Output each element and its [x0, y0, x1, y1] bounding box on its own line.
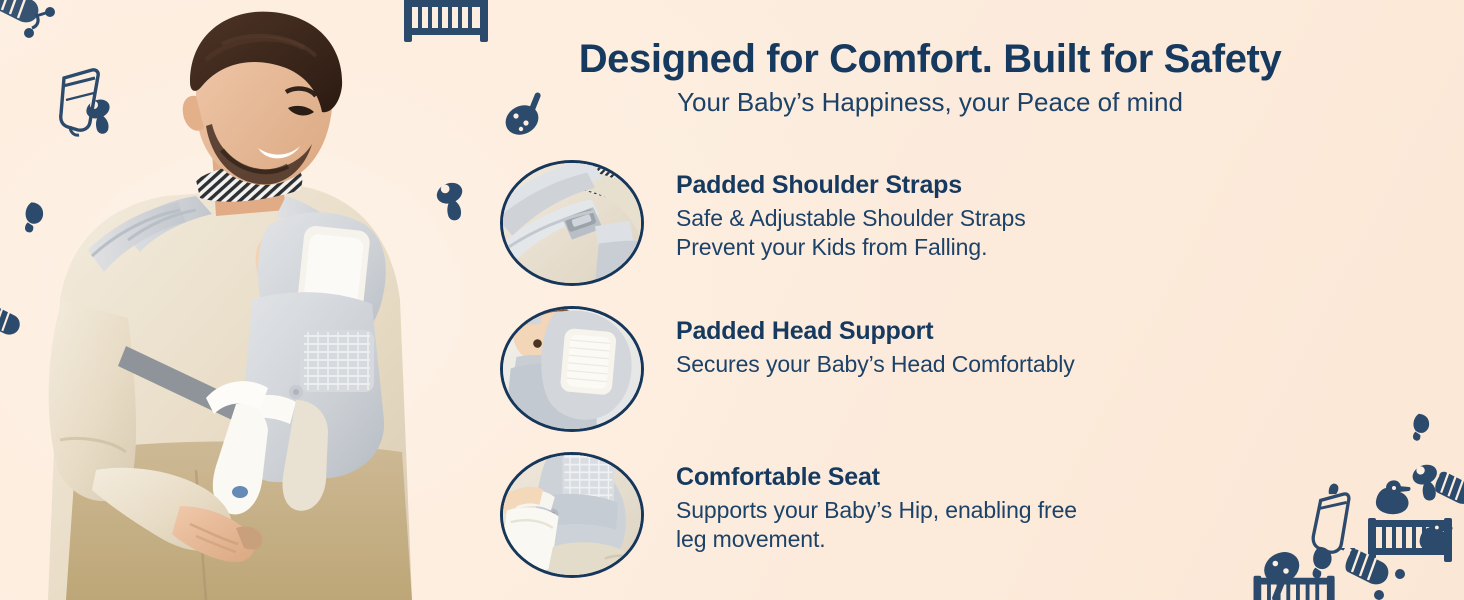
feature-description-line: Safe & Adjustable Shoulder Straps — [676, 205, 1026, 231]
page-title: Designed for Comfort. Built for Safety — [470, 36, 1390, 82]
feature-description-line: Prevent your Kids from Falling. — [676, 234, 987, 260]
page-subtitle: Your Baby’s Happiness, your Peace of min… — [470, 86, 1390, 120]
product-feature-banner: Designed for Comfort. Built for Safety Y… — [0, 0, 1464, 600]
feature-item-padded-head-support: Padded Head Support Secures your Baby’s … — [500, 306, 1440, 432]
feature-text-block: Padded Shoulder Straps Safe & Adjustable… — [644, 160, 1026, 263]
feature-description: Secures your Baby’s Head Comfortably — [676, 350, 1075, 379]
feature-thumbnail-comfortable-seat — [500, 452, 644, 578]
feature-title: Padded Head Support — [676, 316, 1075, 346]
feature-description-line: leg movement. — [676, 526, 826, 552]
feature-text-block: Comfortable Seat Supports your Baby’s Hi… — [644, 452, 1077, 555]
feature-title: Comfortable Seat — [676, 462, 1077, 492]
father-and-baby-illustration — [0, 0, 470, 600]
head-support-closeup-image — [503, 309, 641, 430]
shoulder-strap-closeup-image — [503, 163, 641, 284]
feature-description-line: Secures your Baby’s Head Comfortably — [676, 351, 1075, 377]
feature-text-block: Padded Head Support Secures your Baby’s … — [644, 306, 1075, 379]
feature-title: Padded Shoulder Straps — [676, 170, 1026, 200]
hero-photo — [0, 0, 470, 600]
feature-list: Padded Shoulder Straps Safe & Adjustable… — [500, 160, 1440, 578]
feature-thumbnail-shoulder-straps — [500, 160, 644, 286]
feature-description: Safe & Adjustable Shoulder Straps Preven… — [676, 204, 1026, 263]
feature-description-line: Supports your Baby’s Hip, enabling free — [676, 497, 1077, 523]
feature-item-comfortable-seat: Comfortable Seat Supports your Baby’s Hi… — [500, 452, 1440, 578]
feature-item-padded-shoulder-straps: Padded Shoulder Straps Safe & Adjustable… — [500, 160, 1440, 286]
feature-description: Supports your Baby’s Hip, enabling free … — [676, 496, 1077, 555]
feature-thumbnail-head-support — [500, 306, 644, 432]
content-column: Designed for Comfort. Built for Safety Y… — [470, 0, 1464, 600]
hip-seat-closeup-image — [503, 455, 641, 576]
